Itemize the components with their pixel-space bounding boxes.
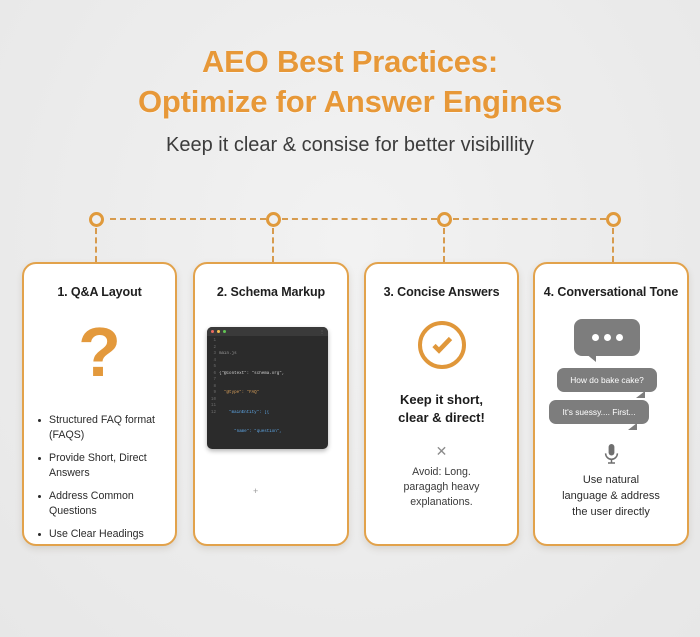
timeline-drop-1 bbox=[95, 228, 97, 262]
card-footer-note: Use natural language & address the user … bbox=[535, 473, 687, 521]
timeline-drop-3 bbox=[443, 228, 445, 262]
timeline-segment-3 bbox=[453, 218, 606, 220]
avoid-line2: paragagh heavy bbox=[366, 480, 517, 495]
line-number: 12 bbox=[207, 410, 216, 417]
answer-bubble: It's suessy.... First... bbox=[549, 400, 649, 424]
footer-line1: Use natural bbox=[535, 473, 687, 489]
timeline-node-4 bbox=[606, 212, 621, 227]
maximize-icon[interactable] bbox=[223, 330, 226, 333]
timeline-node-3 bbox=[437, 212, 452, 227]
code-content[interactable]: main.js {"@context": "schema.org", "@typ… bbox=[219, 338, 328, 449]
infographic-canvas: AEO Best Practices: Optimize for Answer … bbox=[0, 0, 700, 637]
bullet-list: Structured FAQ format (FAQS) Provide Sho… bbox=[24, 413, 175, 542]
card-concise-answers[interactable]: 3. Concise Answers Keep it short, clear … bbox=[364, 262, 519, 546]
chat-bubbles-icon: How do bake cake? It's suessy.... First.… bbox=[535, 319, 687, 451]
page-title-line2: Optimize for Answer Engines bbox=[0, 86, 700, 118]
code-line: "name": "question", bbox=[219, 429, 328, 436]
timeline-drop-4 bbox=[612, 228, 614, 262]
question-mark-icon: ? bbox=[24, 317, 175, 387]
header: AEO Best Practices: Optimize for Answer … bbox=[0, 46, 700, 157]
card-conversational-tone[interactable]: 4. Conversational Tone How do bake cake?… bbox=[533, 262, 689, 546]
headline: Keep it short, clear & direct! bbox=[366, 391, 517, 426]
footer-line3: the user directly bbox=[535, 505, 687, 521]
page-subtitle: Keep it clear & consise for better visib… bbox=[0, 134, 700, 157]
timeline-drop-2 bbox=[272, 228, 274, 262]
close-icon[interactable] bbox=[211, 330, 214, 333]
check-circle-icon bbox=[366, 321, 517, 369]
headline-line2: clear & direct! bbox=[366, 409, 517, 427]
timeline-node-2 bbox=[266, 212, 281, 227]
question-bubble: How do bake cake? bbox=[557, 368, 657, 392]
card-title: 3. Concise Answers bbox=[366, 285, 517, 299]
card-schema-markup[interactable]: 2. Schema Markup ⋮ 1 2 3 4 5 6 7 8 9 bbox=[193, 262, 349, 546]
window-menu-icon[interactable]: ⋮ bbox=[320, 329, 324, 334]
code-window-icon: ⋮ 1 2 3 4 5 6 7 8 9 10 11 12 bbox=[207, 327, 328, 449]
page-title-line1: AEO Best Practices: bbox=[0, 46, 700, 78]
code-line: "types": "mainEntity", "FAQPage" bbox=[219, 449, 328, 450]
timeline-segment-1 bbox=[110, 218, 266, 220]
text-caret: + bbox=[253, 486, 258, 496]
list-item: Structured FAQ format (FAQS) bbox=[38, 413, 169, 443]
avoid-line1: Avoid: Long. bbox=[366, 465, 517, 480]
typing-dots-icon bbox=[592, 334, 623, 341]
card-title: 2. Schema Markup bbox=[195, 285, 347, 299]
card-title: 1. Q&A Layout bbox=[24, 285, 175, 299]
list-item: Use Clear Headings bbox=[38, 527, 169, 542]
list-item: Provide Short, Direct Answers bbox=[38, 451, 169, 481]
code-window-titlebar: ⋮ bbox=[207, 327, 328, 336]
avoid-line3: explanations. bbox=[366, 495, 517, 510]
list-item: Address Common Questions bbox=[38, 489, 169, 519]
typing-bubble bbox=[574, 319, 640, 356]
code-line: "mainEntity": [{ bbox=[219, 410, 328, 417]
code-line: "@type": "FAQ" bbox=[219, 390, 328, 397]
headline-line1: Keep it short, bbox=[366, 391, 517, 409]
code-line: main.js bbox=[219, 351, 328, 358]
timeline-node-1 bbox=[89, 212, 104, 227]
avoid-note: Avoid: Long. paragagh heavy explanations… bbox=[366, 465, 517, 510]
code-line: {"@context": "schema.org", bbox=[219, 371, 328, 378]
code-gutter: 1 2 3 4 5 6 7 8 9 10 11 12 bbox=[207, 338, 219, 449]
timeline-segment-2 bbox=[282, 218, 437, 220]
x-mark-icon: ✕ bbox=[366, 444, 517, 458]
code-editor: 1 2 3 4 5 6 7 8 9 10 11 12 main.js {"@co… bbox=[207, 336, 328, 449]
card-qa-layout[interactable]: 1. Q&A Layout ? Structured FAQ format (F… bbox=[22, 262, 177, 546]
minimize-icon[interactable] bbox=[217, 330, 220, 333]
footer-line2: language & address bbox=[535, 489, 687, 505]
card-title: 4. Conversational Tone bbox=[535, 285, 687, 299]
